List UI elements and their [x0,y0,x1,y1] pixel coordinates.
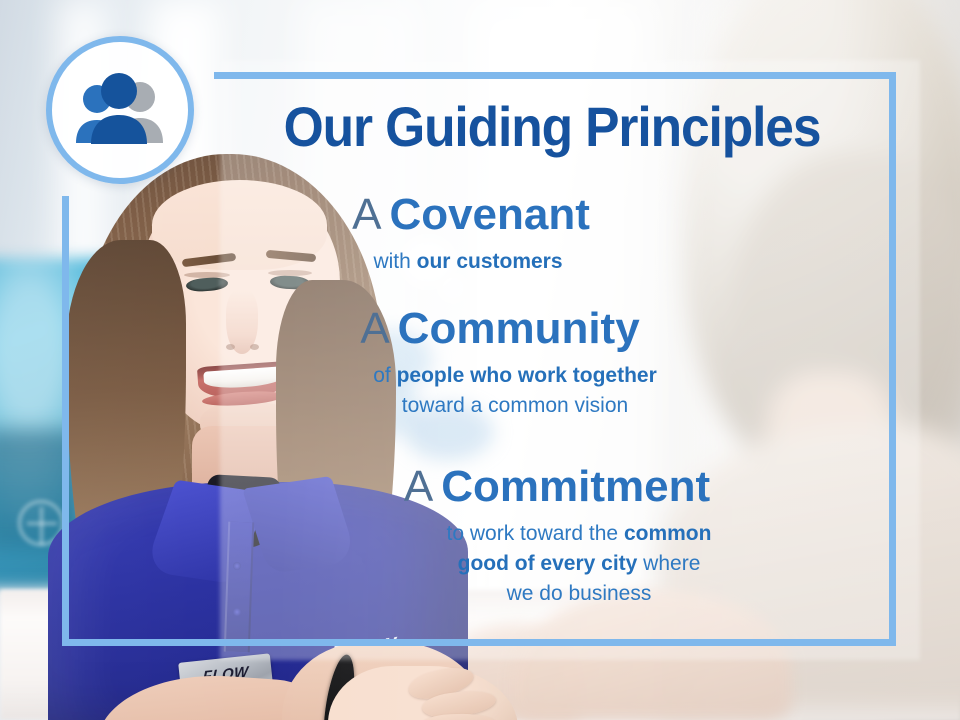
principle-subtext: of people who work together toward a com… [62,361,896,421]
subtext-line: we do business [262,579,896,609]
page-title: Our Guiding Principles [248,98,855,155]
principle-subtext: to work toward the common good of every … [62,519,896,608]
principle-commitment: ACommitment to work toward the common go… [62,462,896,609]
subtext-line: with our customers [373,250,562,273]
principles-content: Our Guiding Principles ACovenant with ou… [62,72,896,646]
principle-community: ACommunity of people who work together t… [62,304,896,421]
subtext-line: good of every city where [262,549,896,579]
subtext-run: we do business [507,582,652,605]
subtext-run: toward a common vision [402,394,628,417]
principle-covenant: ACovenant with our customers [62,190,896,277]
subtext-run: where [637,552,700,575]
principle-headline: ACommunity [62,304,896,353]
subtext-run: of [373,364,396,387]
principle-article: A [360,304,389,353]
subtext-line: to work toward the common [262,519,896,549]
subtext-run: to work toward the [447,522,624,545]
principle-subtext: with our customers [62,247,896,277]
principle-headline: ACommitment [62,462,896,511]
guiding-principles-graphic: FLOW AUTOMOTIVE FLOW [0,0,960,720]
principle-word: Commitment [441,462,710,511]
principle-headline: ACovenant [62,190,896,239]
principle-word: Covenant [389,190,589,239]
subtext-line: toward a common vision [134,391,896,421]
subtext-run-bold: our customers [417,250,563,273]
principle-article: A [404,462,433,511]
principle-word: Community [398,304,640,353]
subtext-run-bold: good of every city [458,552,638,575]
subtext-run: with [373,250,416,273]
subtext-run-bold: people who work together [397,364,657,387]
subtext-run-bold: common [624,522,712,545]
subtext-line: of people who work together [134,361,896,391]
principle-article: A [352,190,381,239]
